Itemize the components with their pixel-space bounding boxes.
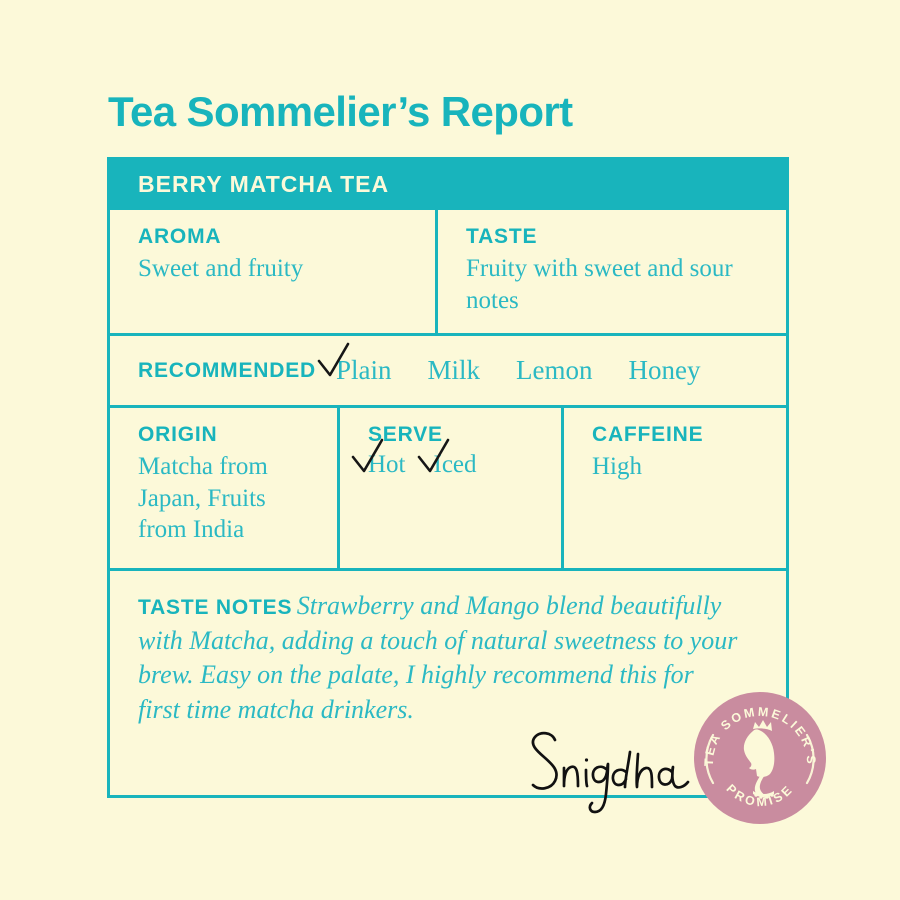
origin-cell: ORIGIN Matcha from Japan, Fruits from In… bbox=[110, 408, 337, 568]
serve-option-label: Iced bbox=[434, 451, 477, 478]
caffeine-value: High bbox=[592, 451, 770, 483]
origin-label: ORIGIN bbox=[138, 424, 315, 445]
recommended-option-label: Plain bbox=[336, 355, 392, 385]
recommended-option-label: Lemon bbox=[516, 355, 592, 385]
serve-label: SERVE bbox=[368, 424, 539, 445]
recommended-option-label: Milk bbox=[428, 355, 481, 385]
taste-value: Fruity with sweet and sour notes bbox=[466, 253, 770, 316]
caffeine-cell: CAFFEINE High bbox=[561, 408, 792, 568]
serve-option-label: Hot bbox=[368, 451, 406, 478]
recommended-label: RECOMMENDED bbox=[138, 359, 316, 383]
aroma-label: AROMA bbox=[138, 226, 413, 247]
sensory-row: AROMA Sweet and fruity TASTE Fruity with… bbox=[110, 210, 786, 336]
taste-label: TASTE bbox=[466, 226, 770, 247]
taste-notes-label: TASTE NOTES bbox=[138, 596, 292, 619]
taste-notes-body: TASTE NOTES Strawberry and Mango blend b… bbox=[138, 589, 738, 727]
serve-option-iced[interactable]: Iced bbox=[434, 451, 477, 479]
tea-report-card: BERRY MATCHA TEA AROMA Sweet and fruity … bbox=[107, 157, 789, 798]
tea-sommeliers-promise-seal: TEA SOMMELIER'S PROMISE bbox=[693, 691, 827, 825]
recommended-row: RECOMMENDED Plain Milk L bbox=[110, 336, 786, 408]
facts-row: ORIGIN Matcha from Japan, Fruits from In… bbox=[110, 408, 786, 571]
aroma-cell: AROMA Sweet and fruity bbox=[110, 210, 435, 333]
taste-notes-row: TASTE NOTES Strawberry and Mango blend b… bbox=[110, 571, 786, 795]
serve-cell: SERVE Hot bbox=[337, 408, 561, 568]
report-page: Tea Sommelier’s Report BERRY MATCHA TEA … bbox=[0, 0, 900, 900]
serve-options: Hot Iced bbox=[368, 451, 539, 479]
serve-option-hot[interactable]: Hot bbox=[368, 451, 406, 479]
aroma-value: Sweet and fruity bbox=[138, 253, 413, 285]
recommended-option-label: Honey bbox=[629, 355, 701, 385]
recommended-option-lemon[interactable]: Lemon bbox=[514, 355, 592, 386]
recommended-option-honey[interactable]: Honey bbox=[627, 355, 701, 386]
recommended-option-plain[interactable]: Plain bbox=[334, 355, 392, 386]
taste-cell: TASTE Fruity with sweet and sour notes bbox=[435, 210, 792, 333]
recommended-option-milk[interactable]: Milk bbox=[426, 355, 481, 386]
card-header-band: BERRY MATCHA TEA bbox=[110, 160, 786, 210]
recommended-options: Plain Milk Lemon Honey bbox=[334, 355, 701, 386]
origin-value: Matcha from Japan, Fruits from India bbox=[138, 451, 315, 546]
recommended-inner: RECOMMENDED Plain Milk L bbox=[138, 336, 700, 405]
product-name: BERRY MATCHA TEA bbox=[138, 171, 389, 198]
caffeine-label: CAFFEINE bbox=[592, 424, 770, 445]
page-title: Tea Sommelier’s Report bbox=[108, 88, 573, 136]
